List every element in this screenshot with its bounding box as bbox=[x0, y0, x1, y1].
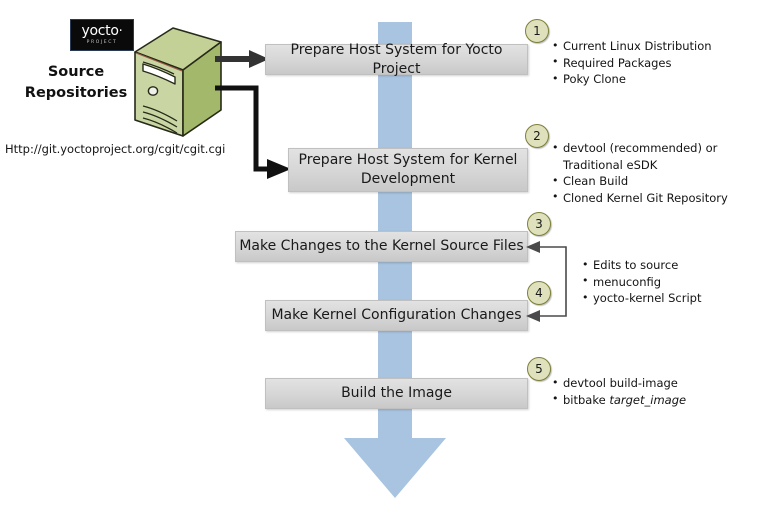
flow-arrow-head-icon bbox=[344, 438, 446, 498]
list-item: devtool build-image bbox=[552, 375, 767, 392]
yocto-project-logo: yocto· PROJECT bbox=[70, 19, 134, 51]
process-box-prepare-host-yocto[interactable]: Prepare Host System for Yocto Project bbox=[265, 44, 528, 75]
logo-word-text: yocto bbox=[82, 23, 119, 39]
source-label-line2: Repositories bbox=[14, 83, 138, 104]
list-item: Required Packages bbox=[552, 55, 767, 72]
step-circle-4-number: 4 bbox=[535, 286, 543, 300]
step-circle-2-number: 2 bbox=[533, 129, 541, 143]
step-circle-5: 5 bbox=[527, 357, 551, 381]
list-item: Current Linux Distribution bbox=[552, 38, 767, 55]
logo-wordmark: yocto· bbox=[82, 24, 123, 39]
list-item: menuconfig bbox=[582, 274, 767, 291]
process-box-3-label: Make Changes to the Kernel Source Files bbox=[239, 237, 523, 256]
step-circle-5-number: 5 bbox=[535, 362, 543, 376]
step-circle-4: 4 bbox=[527, 281, 551, 305]
process-box-2-label-line2: Development bbox=[299, 170, 518, 189]
logo-dot: · bbox=[119, 24, 123, 39]
process-box-build-image[interactable]: Build the Image bbox=[265, 378, 528, 409]
step-circle-3: 3 bbox=[527, 212, 551, 236]
process-box-5-label: Build the Image bbox=[341, 384, 452, 403]
step-circle-3-number: 3 bbox=[535, 217, 543, 231]
process-box-1-label: Prepare Host System for Yocto Project bbox=[266, 41, 527, 79]
process-box-make-kernel-config-changes[interactable]: Make Kernel Configuration Changes bbox=[265, 300, 528, 331]
step-1-bullets: Current Linux Distribution Required Pack… bbox=[552, 38, 767, 88]
step-circle-1: 1 bbox=[525, 19, 549, 43]
process-box-make-kernel-source-changes[interactable]: Make Changes to the Kernel Source Files bbox=[235, 231, 528, 262]
list-item: devtool (recommended) or Traditional eSD… bbox=[552, 140, 767, 173]
process-box-prepare-host-kernel[interactable]: Prepare Host System for Kernel Developme… bbox=[288, 148, 528, 192]
list-item-argument: target_image bbox=[609, 393, 686, 407]
list-item-line2: Traditional eSDK bbox=[563, 157, 767, 174]
diagram-canvas: yocto· PROJECT Source Repositories Http:… bbox=[0, 0, 769, 517]
source-repositories-label: Source Repositories bbox=[14, 62, 138, 104]
list-item-line1: devtool (recommended) or bbox=[563, 141, 717, 155]
list-item: Poky Clone bbox=[552, 71, 767, 88]
source-label-line1: Source bbox=[14, 62, 138, 83]
list-item: Cloned Kernel Git Repository bbox=[552, 190, 767, 207]
server-icon bbox=[131, 26, 223, 140]
source-repository-url: Http://git.yoctoproject.org/cgit/cgit.cg… bbox=[5, 142, 225, 156]
steps-34-bullets: Edits to source menuconfig yocto-kernel … bbox=[582, 257, 767, 307]
list-item: yocto-kernel Script bbox=[582, 290, 767, 307]
step-5-bullets: devtool build-image bitbake target_image bbox=[552, 375, 767, 408]
process-box-4-label: Make Kernel Configuration Changes bbox=[271, 306, 521, 325]
list-item: Clean Build bbox=[552, 173, 767, 190]
list-item: bitbake target_image bbox=[552, 392, 767, 409]
list-item: Edits to source bbox=[582, 257, 767, 274]
logo-subtitle: PROJECT bbox=[87, 39, 118, 46]
process-box-2-label-line1: Prepare Host System for Kernel bbox=[299, 151, 518, 170]
step-2-bullets: devtool (recommended) or Traditional eSD… bbox=[552, 140, 767, 206]
step-circle-2: 2 bbox=[525, 124, 549, 148]
list-item-command: bitbake bbox=[563, 393, 609, 407]
step-circle-1-number: 1 bbox=[533, 24, 541, 38]
